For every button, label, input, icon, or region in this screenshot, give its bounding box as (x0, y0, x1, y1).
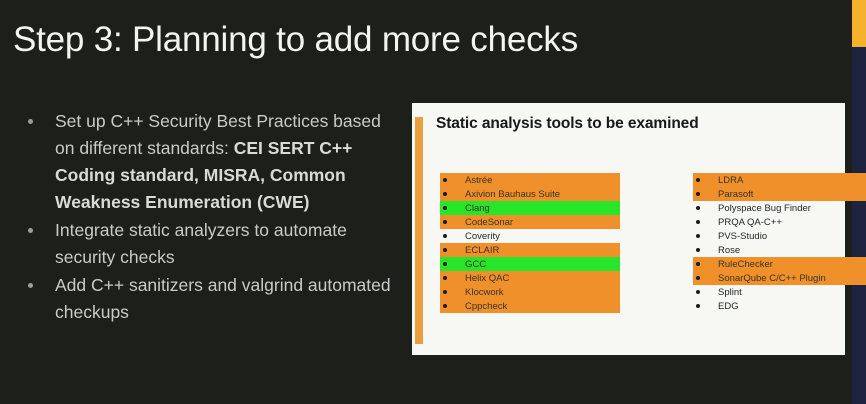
panel-accent-bar (415, 117, 423, 344)
tool-list-item: Axivion Bauhaus Suite (440, 187, 620, 201)
bullet-text: Integrate static analyzers to automate s… (55, 220, 347, 267)
bullet-dot-icon (443, 290, 447, 294)
tool-list-item: Astrée (440, 173, 620, 187)
tool-list-item: LDRA (693, 173, 866, 187)
tool-list-item: PRQA QA-C++ (693, 215, 866, 229)
bullet-dot-icon (443, 234, 447, 238)
tool-list-item: Clang (440, 201, 620, 215)
tool-list-item: Splint (693, 285, 866, 299)
tool-list-item: Parasoft (693, 187, 866, 201)
bullet-item: Integrate static analyzers to automate s… (14, 217, 399, 271)
bullet-dot-icon (696, 304, 700, 308)
tool-list-item: RuleChecker (693, 257, 866, 271)
tool-list-item: Helix QAC (440, 271, 620, 285)
bullet-item: Add C++ sanitizers and valgrind automate… (14, 272, 399, 326)
bullet-dot-icon (443, 304, 447, 308)
tool-list-item: Klocwork (440, 285, 620, 299)
tool-list-left: AstréeAxivion Bauhaus SuiteClangCodeSona… (440, 173, 620, 313)
slide-title: Step 3: Planning to add more checks (13, 19, 578, 61)
tool-list-item: ECLAIR (440, 243, 620, 257)
presentation-slide: Step 3: Planning to add more checks Set … (0, 0, 866, 404)
bullet-dot-icon (696, 206, 700, 210)
tool-name-label: Cppcheck (462, 299, 510, 315)
bullet-item: Set up C++ Security Best Practices based… (14, 108, 399, 216)
tool-list-item: Polyspace Bug Finder (693, 201, 866, 215)
bullet-dot-icon (443, 192, 447, 196)
tool-list-item: GCC (440, 257, 620, 271)
bullet-dot-icon (696, 248, 700, 252)
bullet-dot-icon (443, 276, 447, 280)
bullet-dot-icon (696, 178, 700, 182)
panel-title: Static analysis tools to be examined (436, 115, 699, 133)
bullet-dot-icon (696, 290, 700, 294)
bullet-dot-icon (696, 262, 700, 266)
tool-list-item: PVS-Studio (693, 229, 866, 243)
bullet-dot-icon (696, 220, 700, 224)
bullet-dot-icon (28, 119, 33, 124)
tool-list-item: Cppcheck (440, 299, 620, 313)
bullet-dot-icon (443, 220, 447, 224)
bullet-text: Add C++ sanitizers and valgrind automate… (55, 275, 391, 322)
edge-accent-strip-yellow (852, 0, 866, 47)
bullet-dot-icon (696, 192, 700, 196)
bullet-list: Set up C++ Security Best Practices based… (14, 108, 399, 327)
bullet-dot-icon (696, 276, 700, 280)
bullet-dot-icon (443, 248, 447, 252)
tool-list-item: Coverity (440, 229, 620, 243)
bullet-dot-icon (28, 283, 33, 288)
tool-list-right: LDRAParasoftPolyspace Bug FinderPRQA QA-… (693, 173, 866, 313)
tool-column-right: LDRAParasoftPolyspace Bug FinderPRQA QA-… (693, 173, 866, 313)
bullet-dot-icon (28, 228, 33, 233)
tool-list-item: SonarQube C/C++ Plugin (693, 271, 866, 285)
tool-name-label: EDG (715, 299, 742, 315)
bullet-dot-icon (696, 234, 700, 238)
static-analysis-tools-panel: Static analysis tools to be examined Ast… (412, 103, 845, 355)
tool-list-item: CodeSonar (440, 215, 620, 229)
tool-list-item: Rose (693, 243, 866, 257)
tool-column-left: AstréeAxivion Bauhaus SuiteClangCodeSona… (440, 173, 620, 313)
tool-list-item: EDG (693, 299, 866, 313)
bullet-dot-icon (443, 178, 447, 182)
bullet-dot-icon (443, 262, 447, 266)
bullet-dot-icon (443, 206, 447, 210)
